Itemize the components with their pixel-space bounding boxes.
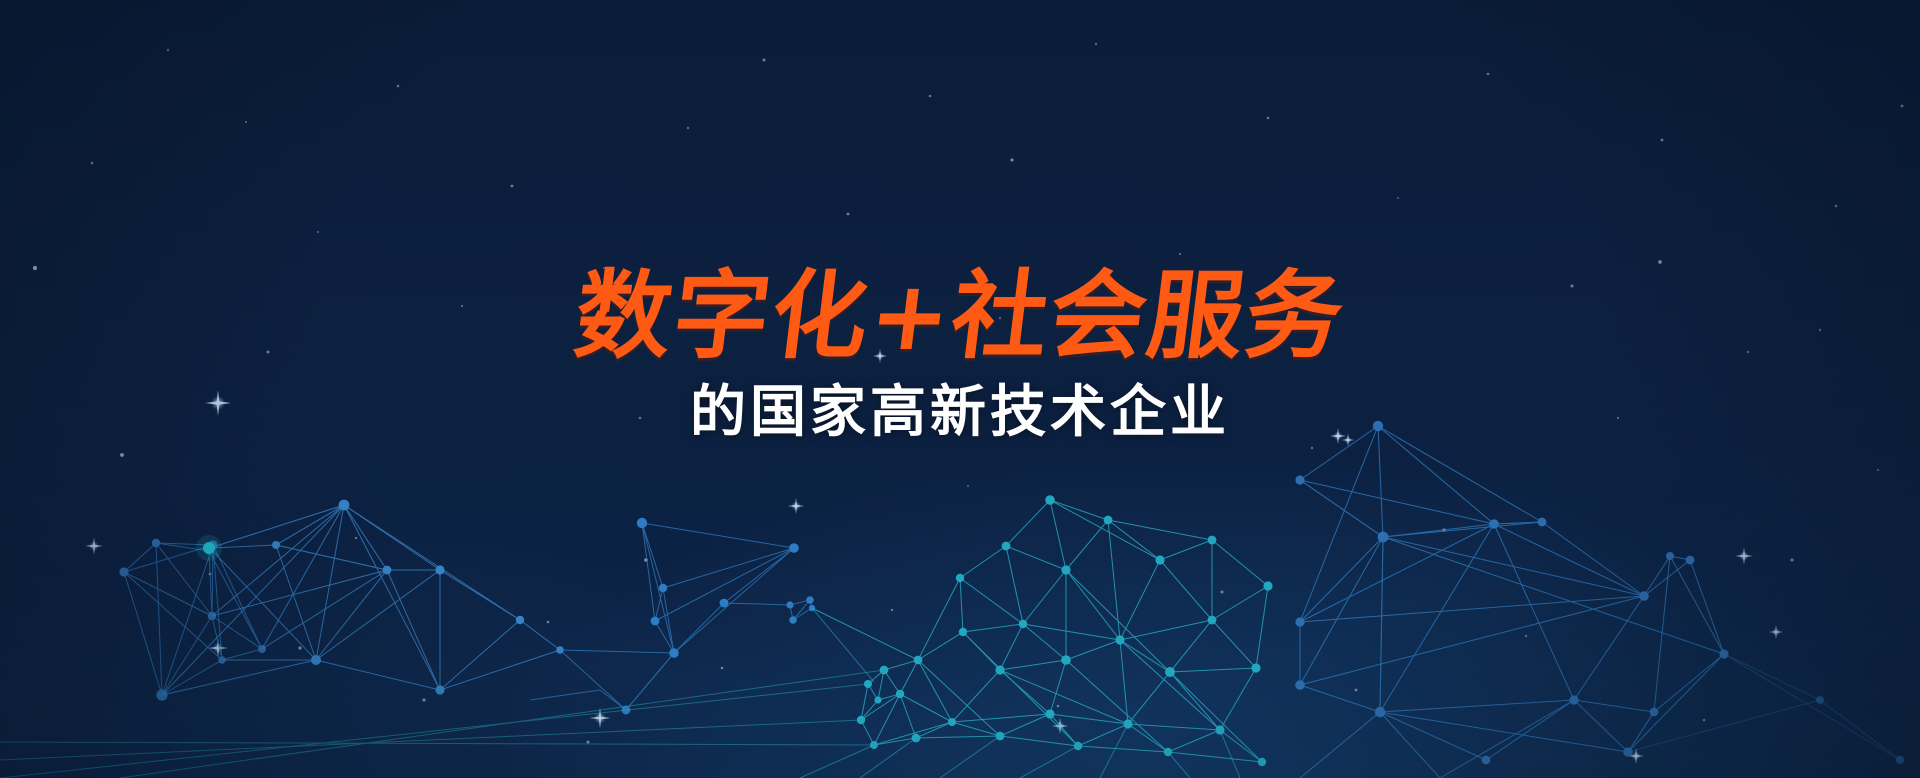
mesh-edges-leftmid [162, 505, 560, 695]
banner-subheadline: 的国家高新技术企业 [0, 382, 1920, 444]
mesh-edges-centerleft [530, 523, 874, 710]
mesh-nodes-centerleft [622, 518, 816, 715]
mesh-node-teal-accent [196, 535, 222, 561]
mesh-edges-right [1300, 426, 1724, 778]
banner-stage: 数字化+社会服务 的国家高新技术企业 [0, 0, 1920, 778]
mesh-edges-bottom [800, 724, 1240, 778]
banner-copy: 数字化+社会服务 的国家高新技术企业 [0, 268, 1920, 444]
mesh-edges-center-teal [812, 500, 1268, 762]
mesh-nodes-right [1295, 421, 1728, 765]
mesh-edges-farright [1628, 654, 1900, 760]
banner-headline: 数字化+社会服务 [0, 268, 1920, 364]
mesh-nodes-leftmid [206, 500, 564, 695]
mesh-edges-left [124, 543, 262, 695]
